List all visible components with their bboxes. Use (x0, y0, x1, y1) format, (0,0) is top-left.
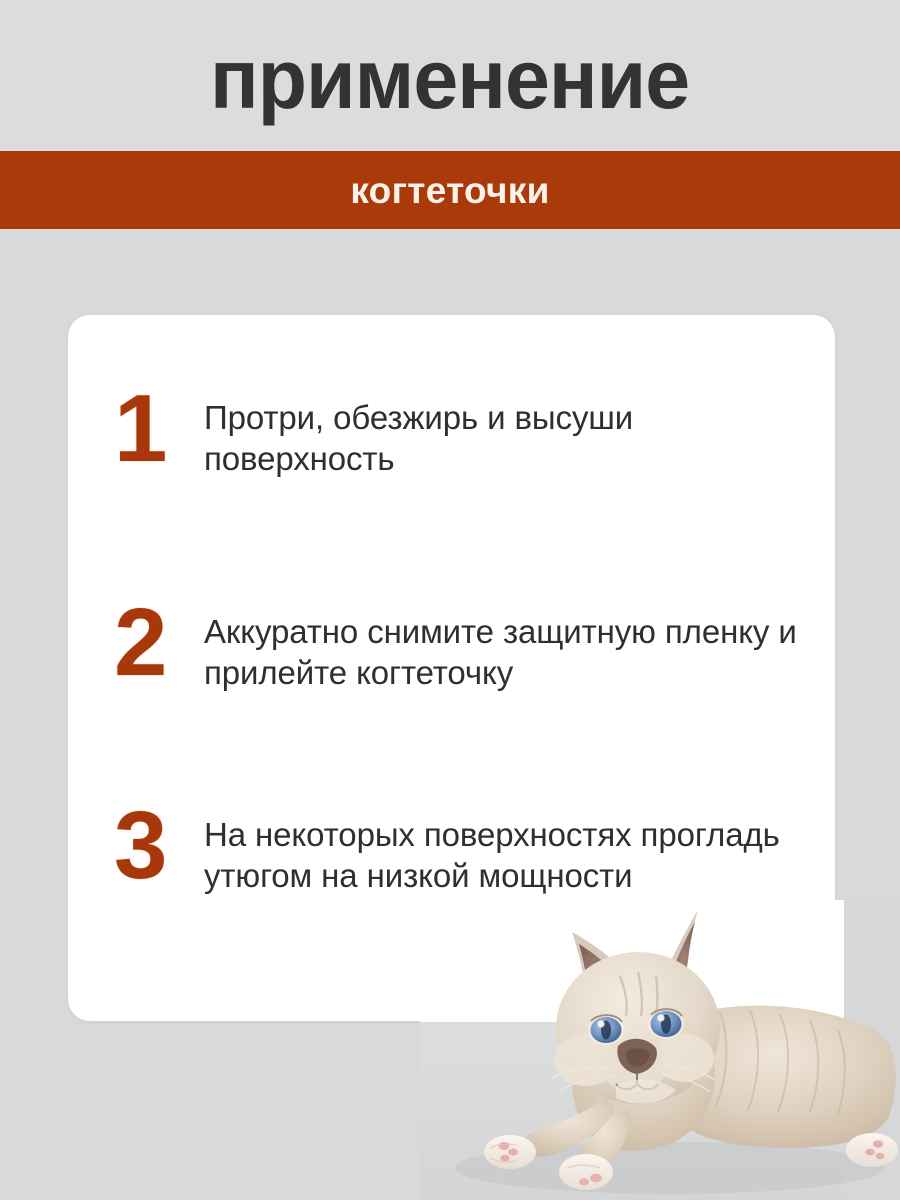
kitten-photo (420, 900, 900, 1200)
infographic-poster: применение когтеточки 1 Протри, обезжирь… (0, 0, 900, 1200)
header-band: применение (0, 0, 900, 151)
page-subtitle: когтеточки (350, 172, 549, 209)
list-item: 1 Протри, обезжирь и высуши поверхность (114, 393, 814, 479)
list-item: 2 Аккуратно снимите защитную пленку и пр… (114, 607, 814, 693)
step-text: Аккуратно снимите защитную пленку и прил… (204, 607, 814, 693)
step-number: 3 (114, 800, 204, 892)
kitten-illustration (420, 900, 900, 1200)
step-number: 2 (114, 597, 204, 689)
step-text: На некоторых поверхностях прогладь утюго… (204, 810, 814, 896)
list-item: 3 На некоторых поверхностях прогладь утю… (114, 810, 814, 896)
step-text: Протри, обезжирь и высуши поверхность (204, 393, 814, 479)
step-number: 1 (114, 383, 204, 475)
page-title: применение (210, 37, 689, 121)
subtitle-band: когтеточки (0, 151, 900, 229)
